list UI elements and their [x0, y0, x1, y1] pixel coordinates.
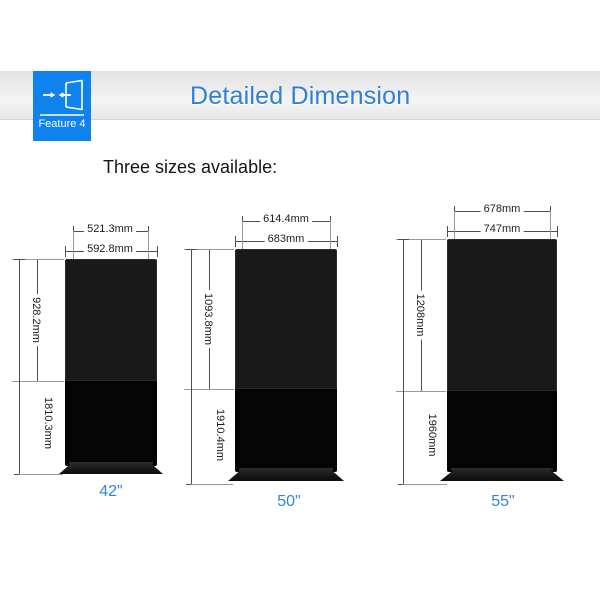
kiosk-screen	[235, 249, 337, 389]
label-screen-height: 1093.8mm	[202, 290, 214, 348]
dimension-line-overall-height	[19, 259, 20, 474]
dimension-diagram: 521.3mm 592.8mm 928.2mm 1810.3mm 42"	[0, 185, 600, 525]
product-group-50: 614.4mm 683mm 1093.8mm 1910.4mm 50"	[196, 185, 396, 525]
dimension-line-overall-height	[403, 239, 404, 484]
label-overall-height: 1810.3mm	[42, 394, 54, 452]
kiosk-lower-panel	[65, 381, 157, 466]
tick	[65, 246, 66, 257]
tick	[447, 226, 448, 237]
tick	[157, 246, 158, 257]
size-label-50: 50"	[277, 493, 300, 511]
label-screen-width: 521.3mm	[84, 223, 136, 235]
feature-badge: Feature 4	[33, 71, 91, 141]
tick	[557, 226, 558, 237]
feature-badge-label: Feature 4	[33, 118, 91, 130]
label-overall-width: 592.8mm	[84, 243, 136, 255]
page-title: Detailed Dimension	[190, 82, 410, 111]
kiosk-base	[440, 469, 564, 481]
extension-line	[550, 211, 551, 239]
kiosk-base	[59, 463, 163, 474]
extension-line	[242, 221, 243, 249]
size-label-55: 55"	[491, 493, 514, 511]
extension-line	[19, 474, 63, 475]
label-overall-height: 1960mm	[426, 411, 438, 460]
extension-line	[191, 484, 233, 485]
extension-line	[148, 231, 149, 259]
tick	[235, 236, 236, 247]
product-group-42: 521.3mm 592.8mm 928.2mm 1810.3mm 42"	[0, 185, 200, 525]
kiosk-42	[65, 259, 157, 474]
label-overall-height: 1910.4mm	[214, 406, 226, 464]
tick	[398, 239, 409, 240]
dimension-arrows-icon	[39, 79, 85, 111]
label-screen-width: 614.4mm	[260, 213, 312, 225]
label-screen-height: 928.2mm	[30, 294, 42, 346]
subtitle-text: Three sizes available:	[103, 157, 277, 178]
label-overall-width: 747mm	[481, 223, 524, 235]
label-overall-width: 683mm	[265, 233, 308, 245]
kiosk-50	[235, 249, 337, 484]
extension-line	[330, 221, 331, 249]
kiosk-lower-panel	[447, 391, 557, 472]
size-label-42: 42"	[99, 483, 122, 501]
tick	[186, 249, 197, 250]
kiosk-base	[228, 469, 344, 481]
kiosk-screen	[447, 239, 557, 391]
kiosk-lower-panel	[235, 389, 337, 472]
product-group-55: 678mm 747mm 1208mm 1960mm 55"	[392, 185, 600, 525]
label-screen-height: 1208mm	[414, 291, 426, 340]
kiosk-55	[447, 239, 557, 484]
dimension-line-overall-height	[191, 249, 192, 484]
extension-line	[403, 484, 447, 485]
tick	[14, 259, 25, 260]
kiosk-screen	[65, 259, 157, 381]
extension-line	[73, 231, 74, 259]
extension-line	[454, 211, 455, 239]
tick	[337, 236, 338, 247]
badge-divider	[40, 114, 84, 116]
label-screen-width: 678mm	[481, 203, 524, 215]
